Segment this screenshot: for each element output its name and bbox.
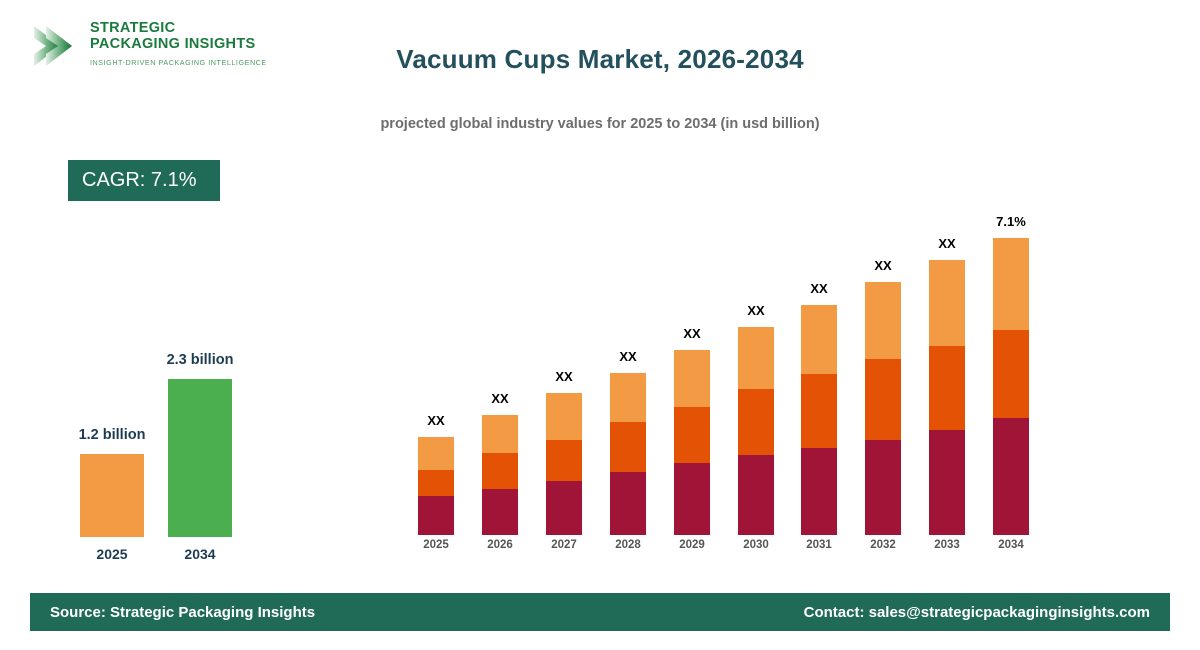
stacked-x-tick-2027: 2027 bbox=[534, 539, 594, 551]
stacked-segment-2030-segment-middle bbox=[738, 389, 774, 455]
stacked-x-tick-2033: 2033 bbox=[917, 539, 977, 551]
stacked-bar-2033 bbox=[929, 260, 965, 535]
stacked-x-tick-2029: 2029 bbox=[662, 539, 722, 551]
stacked-segment-2031-segment-bottom bbox=[801, 448, 837, 535]
stacked-bar-2030 bbox=[738, 327, 774, 535]
stacked-segment-2032-segment-top bbox=[865, 282, 901, 359]
stacked-segment-2026-segment-top bbox=[482, 415, 518, 453]
stacked-x-tick-2026: 2026 bbox=[470, 539, 530, 551]
stacked-segment-2025-segment-top bbox=[418, 437, 454, 470]
stacked-segment-2031-segment-top bbox=[801, 305, 837, 374]
stacked-x-tick-2030: 2030 bbox=[726, 539, 786, 551]
stacked-x-tick-2031: 2031 bbox=[789, 539, 849, 551]
footer-contact: Contact: sales@strategicpackaginginsight… bbox=[804, 604, 1150, 621]
stacked-segment-2027-segment-middle bbox=[546, 440, 582, 481]
stacked-segment-2030-segment-bottom bbox=[738, 455, 774, 535]
stacked-bar-2027 bbox=[546, 393, 582, 535]
stacked-value-label-2028: XX bbox=[598, 349, 658, 364]
stacked-x-tick-2025: 2025 bbox=[406, 539, 466, 551]
stacked-forecast-chart: XX2025XX2026XX2027XX2028XX2029XX2030XX20… bbox=[0, 0, 1200, 650]
stacked-segment-2029-segment-top bbox=[674, 350, 710, 407]
stacked-segment-2031-segment-middle bbox=[801, 374, 837, 448]
stacked-segment-2034-segment-bottom bbox=[993, 418, 1029, 535]
stacked-segment-2026-segment-bottom bbox=[482, 489, 518, 535]
stacked-bar-2025 bbox=[418, 437, 454, 535]
stacked-segment-2025-segment-middle bbox=[418, 470, 454, 496]
stacked-bar-2029 bbox=[674, 350, 710, 535]
stacked-segment-2032-segment-bottom bbox=[865, 440, 901, 535]
stacked-bar-2032 bbox=[865, 282, 901, 535]
stacked-segment-2032-segment-middle bbox=[865, 359, 901, 440]
stacked-segment-2034-segment-middle bbox=[993, 330, 1029, 418]
stacked-segment-2027-segment-bottom bbox=[546, 481, 582, 535]
footer-source: Source: Strategic Packaging Insights bbox=[50, 604, 315, 621]
stacked-segment-2027-segment-top bbox=[546, 393, 582, 440]
stacked-segment-2030-segment-top bbox=[738, 327, 774, 389]
stacked-bar-2028 bbox=[610, 373, 646, 535]
stacked-x-tick-2032: 2032 bbox=[853, 539, 913, 551]
stacked-value-label-2033: XX bbox=[917, 236, 977, 251]
stacked-bar-2034 bbox=[993, 238, 1029, 535]
stacked-value-label-2029: XX bbox=[662, 326, 722, 341]
stacked-value-label-2026: XX bbox=[470, 391, 530, 406]
stacked-bar-2026 bbox=[482, 415, 518, 535]
stacked-value-label-2030: XX bbox=[726, 303, 786, 318]
stacked-value-label-2032: XX bbox=[853, 258, 913, 273]
stacked-value-label-2025: XX bbox=[406, 413, 466, 428]
stacked-value-label-2034: 7.1% bbox=[981, 214, 1041, 229]
stacked-segment-2034-segment-top bbox=[993, 238, 1029, 330]
stacked-segment-2026-segment-middle bbox=[482, 453, 518, 489]
stacked-bar-2031 bbox=[801, 305, 837, 535]
stacked-x-tick-2028: 2028 bbox=[598, 539, 658, 551]
stacked-segment-2033-segment-bottom bbox=[929, 430, 965, 535]
stacked-segment-2033-segment-middle bbox=[929, 346, 965, 430]
stacked-segment-2029-segment-middle bbox=[674, 407, 710, 463]
stacked-segment-2028-segment-top bbox=[610, 373, 646, 422]
stacked-x-tick-2034: 2034 bbox=[981, 539, 1041, 551]
stacked-segment-2028-segment-bottom bbox=[610, 472, 646, 535]
stacked-segment-2033-segment-top bbox=[929, 260, 965, 346]
footer-bar: Source: Strategic Packaging Insights Con… bbox=[30, 593, 1170, 631]
stacked-segment-2028-segment-middle bbox=[610, 422, 646, 472]
stacked-value-label-2027: XX bbox=[534, 369, 594, 384]
stacked-value-label-2031: XX bbox=[789, 281, 849, 296]
stacked-segment-2025-segment-bottom bbox=[418, 496, 454, 535]
stacked-segment-2029-segment-bottom bbox=[674, 463, 710, 535]
